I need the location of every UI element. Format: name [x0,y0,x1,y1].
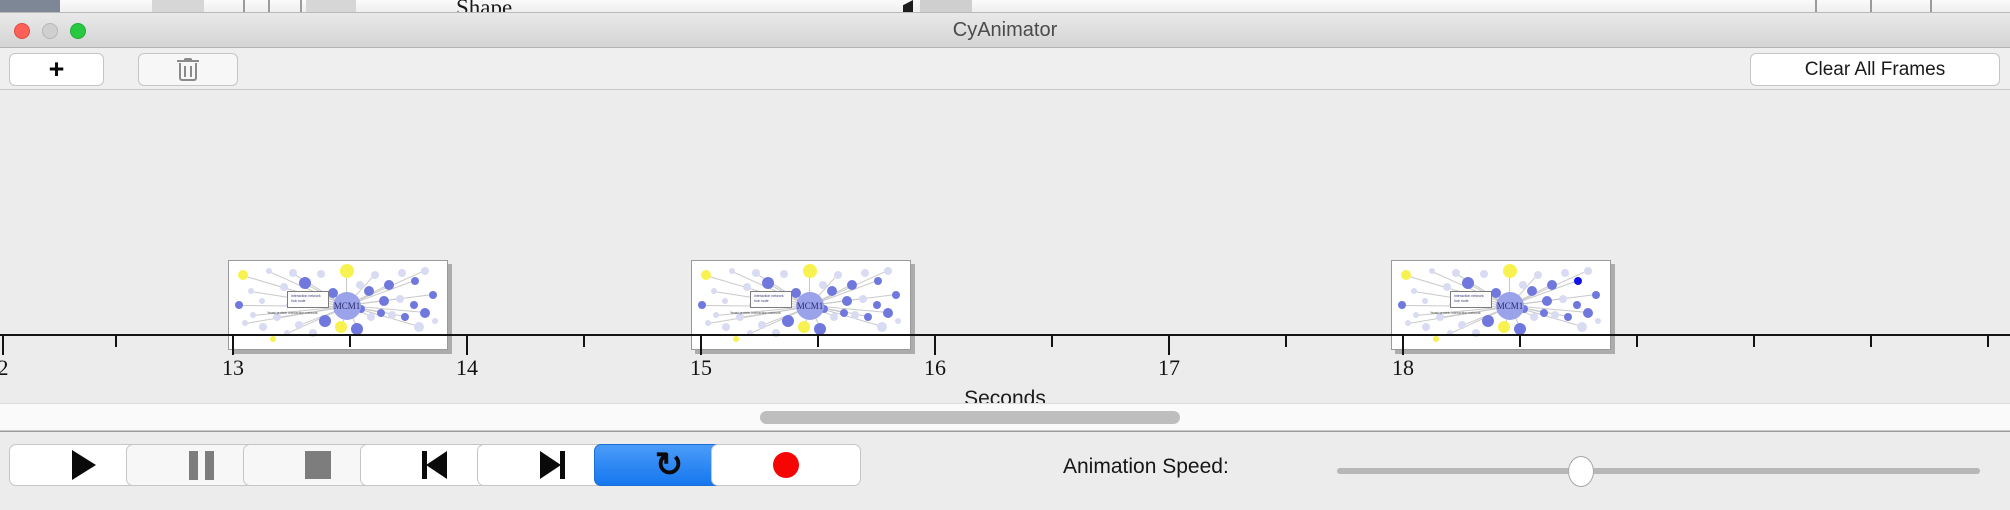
network-node [722,298,728,304]
axis-tick-minor [817,336,819,347]
network-node [1534,271,1542,279]
bg-tick [300,0,302,13]
network-node [299,277,311,289]
axis-tick-label: 16 [924,355,946,381]
network-node [729,268,735,274]
slider-track [1337,468,1980,474]
cyanimator-window: Shape CyAnimator + Clear All Frames MCM1… [0,0,2010,510]
network-node [1584,267,1592,275]
playback-bar: ↻ Animation Speed: [0,431,2010,510]
network-node [1452,269,1460,277]
network-node [701,270,711,280]
axis-tick-major [934,336,936,355]
network-node [317,270,325,278]
network-node [356,281,364,289]
network-node [847,280,857,290]
axis-tick-minor [583,336,585,347]
frame-thumbnails-strip: MCM1Interaction networkhub nodeYeast pro… [0,90,2010,305]
axis-tick-minor [1753,336,1755,347]
record-button[interactable] [711,444,861,486]
network-node [762,277,774,289]
bg-segment [152,0,204,13]
bg-tick [1930,0,1932,13]
timeline-scrollbar-thumb[interactable] [760,411,1180,424]
timeline-panel[interactable]: MCM1Interaction networkhub nodeYeast pro… [0,90,2010,403]
timeline-axis: 2131415161718 Seconds [0,305,2010,403]
network-node [803,264,817,278]
network-node [780,270,788,278]
node-tooltip-line: hub node [1454,299,1488,304]
axis-title: Seconds [0,387,2010,403]
bg-tick [1815,0,1817,13]
network-node [743,283,751,291]
play-icon [72,450,96,480]
network-node [421,267,429,275]
network-node [289,269,297,277]
network-node [827,286,837,296]
network-node [1422,298,1428,304]
network-node [874,277,882,285]
slider-thumb[interactable] [1568,456,1594,487]
network-node [861,269,869,277]
background-window-sliver: Shape [0,0,2010,13]
network-node [1561,269,1569,277]
network-node [1411,288,1417,294]
axis-tick-minor [1870,336,1872,347]
network-node [248,288,254,294]
axis-tick-label: 17 [1158,355,1180,381]
bg-marker [903,0,913,13]
window-title: CyAnimator [0,13,2010,48]
bg-tick [268,0,270,13]
bg-segment [920,0,972,13]
network-node [1443,283,1451,291]
network-node [429,291,437,299]
axis-tick-minor [1285,336,1287,347]
network-node [834,271,842,279]
axis-tick-label: 15 [690,355,712,381]
network-node [1592,291,1600,299]
network-node [371,271,379,279]
background-window-label: Shape [456,0,512,13]
node-tooltip-line: hub node [754,299,788,304]
network-node [1527,286,1537,296]
network-node [364,286,374,296]
title-bar: CyAnimator [0,13,2010,48]
axis-tick-major [232,336,234,355]
network-node [892,291,900,299]
axis-tick-label: 2 [0,355,9,381]
network-node [238,270,248,280]
timeline-scrollbar[interactable] [0,403,2010,431]
network-node [266,268,272,274]
network-node [396,295,404,303]
network-node [1559,295,1567,303]
stop-icon [305,451,331,479]
network-node [340,264,354,278]
bg-segment [306,0,356,13]
network-node [1429,268,1435,274]
axis-tick-minor [1051,336,1053,347]
axis-tick-label: 14 [456,355,478,381]
axis-tick-minor [349,336,351,347]
bg-tick [1870,0,1872,13]
axis-tick-minor [1519,336,1521,347]
network-node [411,277,419,285]
axis-tick-major [466,336,468,355]
network-node [280,283,288,291]
network-node [1480,270,1488,278]
network-node [1462,277,1474,289]
axis-tick-label: 18 [1392,355,1414,381]
animation-speed-slider[interactable] [1337,463,1980,479]
clear-all-frames-label: Clear All Frames [1805,59,1945,81]
axis-tick-major [2,336,4,355]
skip-back-icon [422,451,448,479]
node-tooltip-line: hub node [291,299,325,304]
record-icon [773,452,799,478]
plus-icon: + [49,56,65,83]
network-node [884,267,892,275]
axis-tick-minor [1987,336,1989,347]
network-node [259,298,265,304]
network-node [1574,277,1582,285]
network-node [398,269,406,277]
clear-all-frames-button[interactable]: Clear All Frames [1750,53,2000,86]
network-node [1519,281,1527,289]
network-node [819,281,827,289]
delete-frame-button[interactable] [138,53,238,86]
pause-icon [189,451,214,480]
network-node [1401,270,1411,280]
axis-line [0,334,2010,336]
network-node [1547,280,1557,290]
axis-tick-minor [1636,336,1638,347]
network-node [1503,264,1517,278]
axis-tick-label: 13 [222,355,244,381]
loop-icon: ↻ [655,448,684,482]
network-node [859,295,867,303]
frame-toolbar: + Clear All Frames [0,48,2010,90]
bg-segment [0,0,60,13]
add-frame-button[interactable]: + [9,53,104,86]
axis-tick-major [1168,336,1170,355]
network-node [752,269,760,277]
trash-icon [177,58,199,82]
animation-speed-label: Animation Speed: [1063,455,1229,479]
bg-tick [243,0,245,13]
network-node [384,280,394,290]
network-node [711,288,717,294]
axis-tick-minor [115,336,117,347]
skip-forward-icon [539,451,565,479]
axis-tick-major [700,336,702,355]
axis-tick-major [1402,336,1404,355]
